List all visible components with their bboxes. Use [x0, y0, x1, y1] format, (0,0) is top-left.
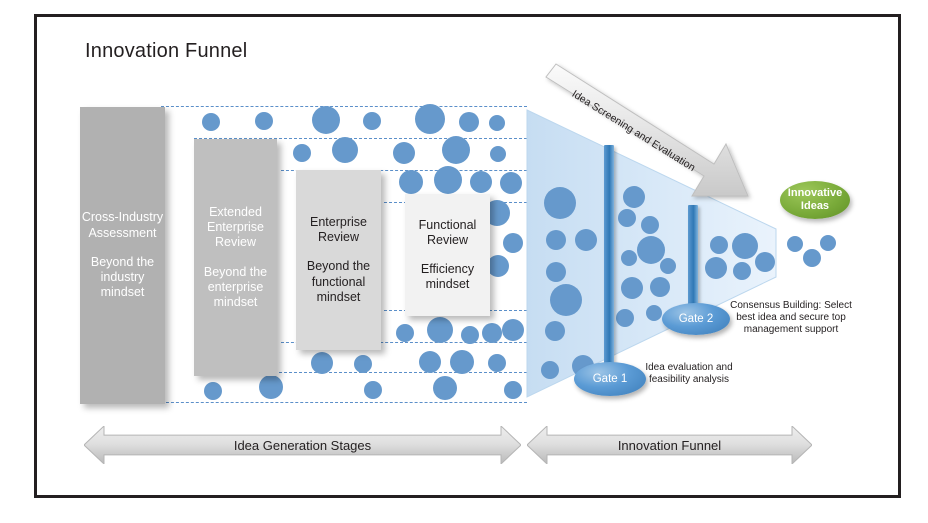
idea-dot-in-funnel: [623, 186, 645, 208]
idea-dot: [490, 146, 506, 162]
idea-dot-output: [787, 236, 803, 252]
idea-dot: [504, 381, 522, 399]
idea-dot: [500, 172, 522, 194]
idea-dot-in-funnel: [544, 187, 576, 219]
idea-dot-in-funnel: [660, 258, 676, 274]
range-arrow-innovation-funnel: Innovation Funnel: [527, 426, 812, 464]
idea-dot: [482, 323, 502, 343]
idea-dot: [487, 255, 509, 277]
idea-dot-in-funnel: [550, 284, 582, 316]
gate-1-label: Gate 1: [593, 373, 628, 385]
innovative-ideas-line2: Ideas: [801, 200, 829, 213]
stage-subtitle: Efficiency mindset: [405, 262, 490, 293]
idea-dot-in-funnel: [546, 230, 566, 250]
idea-dot: [488, 354, 506, 372]
idea-dot: [255, 112, 273, 130]
stage-subtitle: Beyond the functional mindset: [296, 259, 381, 305]
idea-dot-in-funnel: [621, 277, 643, 299]
stage-box-cross-industry-assessment: Cross-Industry AssessmentBeyond the indu…: [80, 107, 165, 404]
gate-1-bar: [604, 145, 614, 385]
diagram-canvas: Innovation Funnel: [0, 0, 928, 523]
idea-dot-in-funnel: [545, 321, 565, 341]
page-title: Innovation Funnel: [85, 40, 247, 63]
idea-dot-in-funnel: [733, 262, 751, 280]
idea-dot: [393, 142, 415, 164]
gate-2-label: Gate 2: [679, 313, 714, 325]
idea-dot: [459, 112, 479, 132]
idea-dot-in-funnel: [541, 361, 559, 379]
idea-dot: [450, 350, 474, 374]
idea-dot-in-funnel: [575, 229, 597, 251]
idea-dot-output: [803, 249, 821, 267]
stage-subtitle: Beyond the enterprise mindset: [194, 265, 277, 311]
idea-dot-output: [820, 235, 836, 251]
stage-box-functional-review: Functional ReviewEfficiency mindset: [405, 194, 490, 316]
idea-dot: [204, 382, 222, 400]
dashed-guide-line: [161, 106, 527, 107]
idea-dot-in-funnel: [650, 277, 670, 297]
idea-dot: [363, 112, 381, 130]
innovative-ideas-line1: Innovative: [788, 187, 842, 200]
stage-box-extended-enterprise-review: Extended Enterprise ReviewBeyond the ent…: [194, 139, 277, 376]
range-arrow-idea-generation-stages: Idea Generation Stages: [84, 426, 521, 464]
gate-1-label-ellipse: Gate 1: [574, 362, 646, 396]
idea-dot: [502, 319, 524, 341]
range-arrow-label: Innovation Funnel: [527, 426, 812, 464]
idea-dot: [311, 352, 333, 374]
idea-dot: [202, 113, 220, 131]
idea-dot: [433, 376, 457, 400]
idea-dot: [312, 106, 340, 134]
idea-dot: [427, 317, 453, 343]
idea-dot: [442, 136, 470, 164]
idea-dot: [293, 144, 311, 162]
stage-heading: Functional Review: [405, 218, 490, 249]
idea-dot: [419, 351, 441, 373]
idea-dot: [461, 326, 479, 344]
gate-1-note: Idea evaluation and feasibility analysis: [641, 362, 737, 386]
idea-dot-in-funnel: [546, 262, 566, 282]
innovative-ideas-badge: Innovative Ideas: [780, 181, 850, 219]
idea-dot-in-funnel: [641, 216, 659, 234]
idea-dot-in-funnel: [710, 236, 728, 254]
idea-dot-in-funnel: [705, 257, 727, 279]
idea-dot: [259, 375, 283, 399]
idea-dot-in-funnel: [755, 252, 775, 272]
idea-dot: [354, 355, 372, 373]
idea-dot-in-funnel: [646, 305, 662, 321]
idea-dot: [415, 104, 445, 134]
idea-dot-in-funnel: [732, 233, 758, 259]
idea-dot: [503, 233, 523, 253]
idea-dot-in-funnel: [621, 250, 637, 266]
idea-dot-in-funnel: [618, 209, 636, 227]
idea-dot: [470, 171, 492, 193]
idea-dot-in-funnel: [637, 236, 665, 264]
stage-subtitle: Beyond the industry mindset: [80, 255, 165, 301]
range-arrow-label: Idea Generation Stages: [84, 426, 521, 464]
idea-dot-in-funnel: [616, 309, 634, 327]
idea-dot: [434, 166, 462, 194]
idea-dot: [364, 381, 382, 399]
idea-dot: [399, 170, 423, 194]
stage-heading: Cross-Industry Assessment: [80, 210, 165, 241]
dashed-guide-line: [161, 402, 527, 403]
stage-box-enterprise-review: Enterprise ReviewBeyond the functional m…: [296, 170, 381, 350]
idea-dot: [332, 137, 358, 163]
stage-heading: Enterprise Review: [296, 215, 381, 246]
idea-dot: [489, 115, 505, 131]
gate-2-note: Consensus Building: Select best idea and…: [730, 300, 852, 336]
idea-dot: [396, 324, 414, 342]
gate-2-label-ellipse: Gate 2: [662, 303, 730, 335]
stage-heading: Extended Enterprise Review: [194, 205, 277, 251]
